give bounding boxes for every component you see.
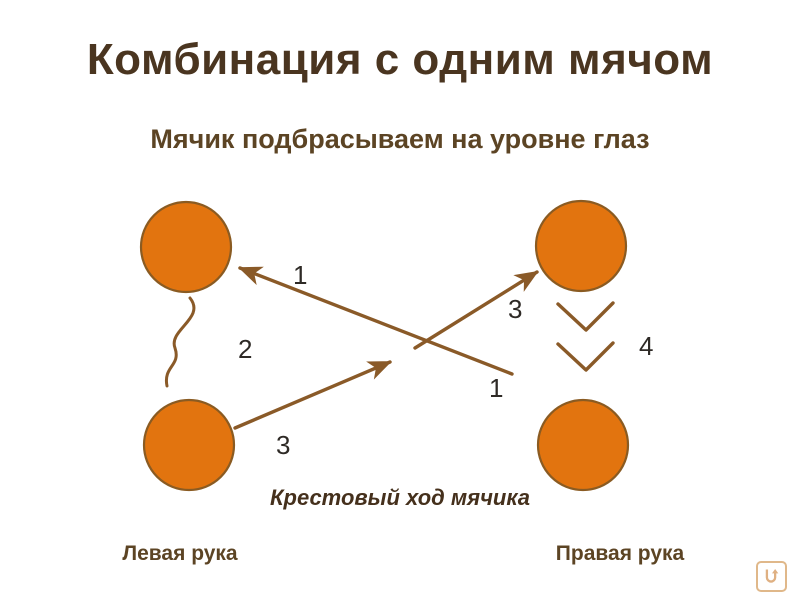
juggling-diagram bbox=[0, 0, 800, 600]
step-label-2-left-wave: 2 bbox=[238, 336, 252, 362]
ball-bottom-left bbox=[144, 400, 234, 490]
ball-bottom-right bbox=[538, 400, 628, 490]
step-label-1-top: 1 bbox=[293, 262, 307, 288]
wave-left-hand bbox=[166, 298, 194, 386]
page-title: Комбинация с одним мячом bbox=[0, 38, 800, 82]
watermark-badge bbox=[756, 561, 787, 592]
step-label-1-right: 1 bbox=[489, 375, 503, 401]
arrow-cross-to-top-left bbox=[240, 268, 512, 374]
diagram-caption: Крестовый ход мячика bbox=[0, 487, 800, 509]
chevron-down-upper-icon bbox=[558, 303, 613, 330]
step-label-3-bottom-left: 3 bbox=[276, 432, 290, 458]
step-label-4-right-chevrons: 4 bbox=[639, 333, 653, 359]
label-right-hand: Правая рука bbox=[500, 543, 740, 564]
slide-canvas: Комбинация с одним мячом Мячик подбрасыв… bbox=[0, 0, 800, 600]
ball-top-left bbox=[141, 202, 231, 292]
subtitle: Мячик подбрасываем на уровне глаз bbox=[0, 126, 800, 153]
arrow-bottom-left-up-right bbox=[235, 362, 390, 428]
u-turn-arrow-icon bbox=[762, 567, 781, 586]
ball-top-right bbox=[536, 201, 626, 291]
chevron-down-lower-icon bbox=[558, 343, 613, 370]
step-label-3-top-right: 3 bbox=[508, 296, 522, 322]
label-left-hand: Левая рука bbox=[60, 543, 300, 564]
